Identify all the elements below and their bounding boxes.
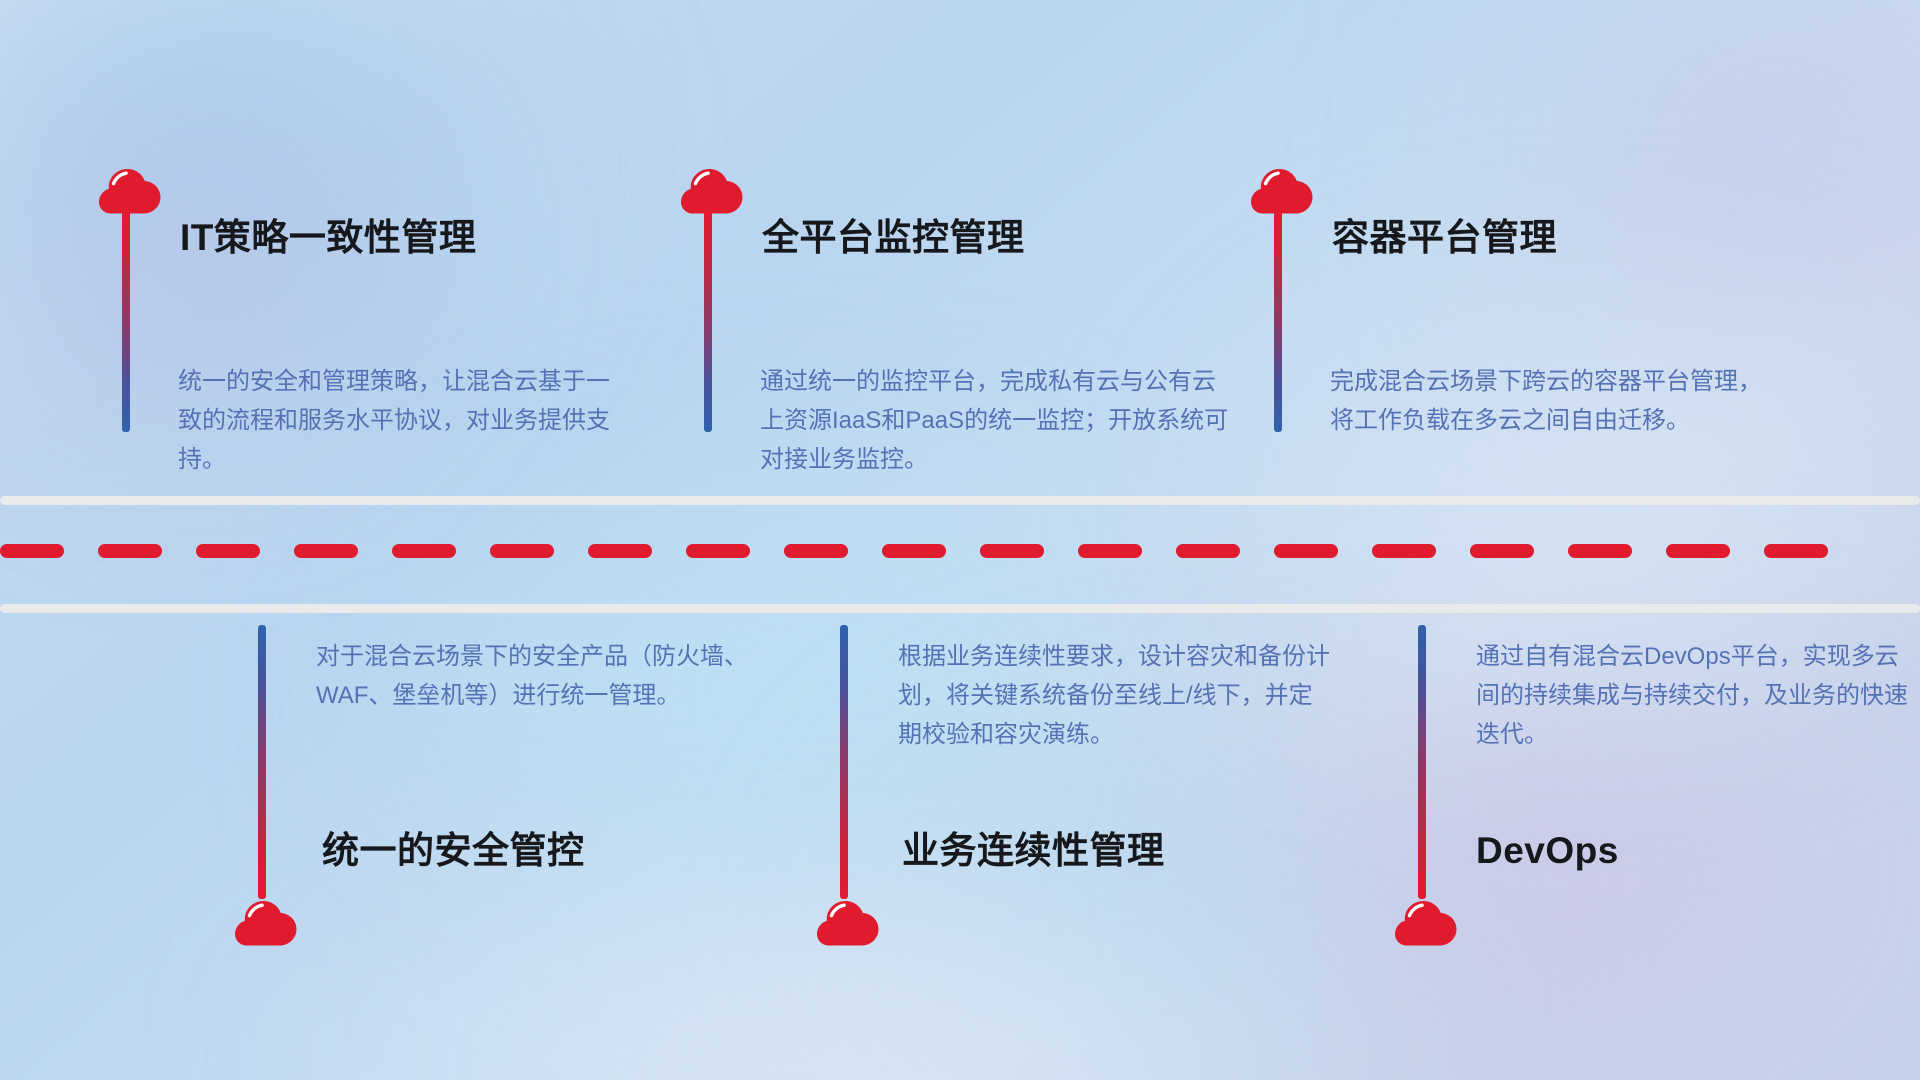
marker-stem: [704, 210, 712, 432]
heading-unified-security: 统一的安全管控: [322, 832, 585, 869]
road-dash: [1568, 544, 1632, 558]
road-dash: [882, 544, 946, 558]
road-line-lower: [0, 604, 1920, 613]
road-dash: [0, 544, 64, 558]
road-dash: [490, 544, 554, 558]
cloud-icon: [1248, 163, 1316, 215]
heading-business-continuity: 业务连续性管理: [902, 832, 1165, 869]
marker-stem: [122, 210, 130, 432]
body-it-policy: 统一的安全和管理策略，让混合云基于一致的流程和服务水平协议，对业务提供支持。: [178, 363, 610, 480]
body-devops: 通过自有混合云DevOps平台，实现多云间的持续集成与持续交付，及业务的快速迭代…: [1476, 638, 1908, 755]
body-unified-security: 对于混合云场景下的安全产品（防火墙、WAF、堡垒机等）进行统一管理。: [316, 638, 748, 716]
heading-it-policy: IT策略一致性管理: [180, 219, 476, 256]
road-dash: [392, 544, 456, 558]
road-dash-strip: [0, 544, 1920, 558]
road-dash: [980, 544, 1044, 558]
road-dash: [98, 544, 162, 558]
road-dash: [196, 544, 260, 558]
marker-stem: [1274, 210, 1282, 432]
road-dash: [1764, 544, 1828, 558]
road-dash: [1176, 544, 1240, 558]
road-dash: [1372, 544, 1436, 558]
road-dash: [686, 544, 750, 558]
road-dash: [1470, 544, 1534, 558]
marker-stem: [840, 625, 848, 899]
cloud-icon: [814, 895, 882, 947]
heading-platform-monitoring: 全平台监控管理: [762, 219, 1025, 256]
marker-stem: [1418, 625, 1426, 899]
body-platform-monitoring: 通过统一的监控平台，完成私有云与公有云上资源IaaS和PaaS的统一监控；开放系…: [760, 363, 1230, 480]
road-dash: [784, 544, 848, 558]
road-dash: [1078, 544, 1142, 558]
infographic-canvas: IT策略一致性管理 统一的安全和管理策略，让混合云基于一致的流程和服务水平协议，…: [0, 0, 1920, 1080]
road-dash: [1274, 544, 1338, 558]
marker-stem: [258, 625, 266, 899]
road-line-upper: [0, 496, 1920, 505]
cloud-icon: [1392, 895, 1460, 947]
heading-container-platform: 容器平台管理: [1332, 219, 1557, 256]
road-dash: [1666, 544, 1730, 558]
road-dash: [294, 544, 358, 558]
road-dash: [588, 544, 652, 558]
cloud-icon: [678, 163, 746, 215]
cloud-icon: [96, 163, 164, 215]
body-container-platform: 完成混合云场景下跨云的容器平台管理，将工作负载在多云之间自由迁移。: [1330, 363, 1762, 441]
cloud-icon: [232, 895, 300, 947]
heading-devops: DevOps: [1476, 832, 1619, 869]
body-business-continuity: 根据业务连续性要求，设计容灾和备份计划，将关键系统备份至线上/线下，并定期校验和…: [898, 638, 1330, 755]
